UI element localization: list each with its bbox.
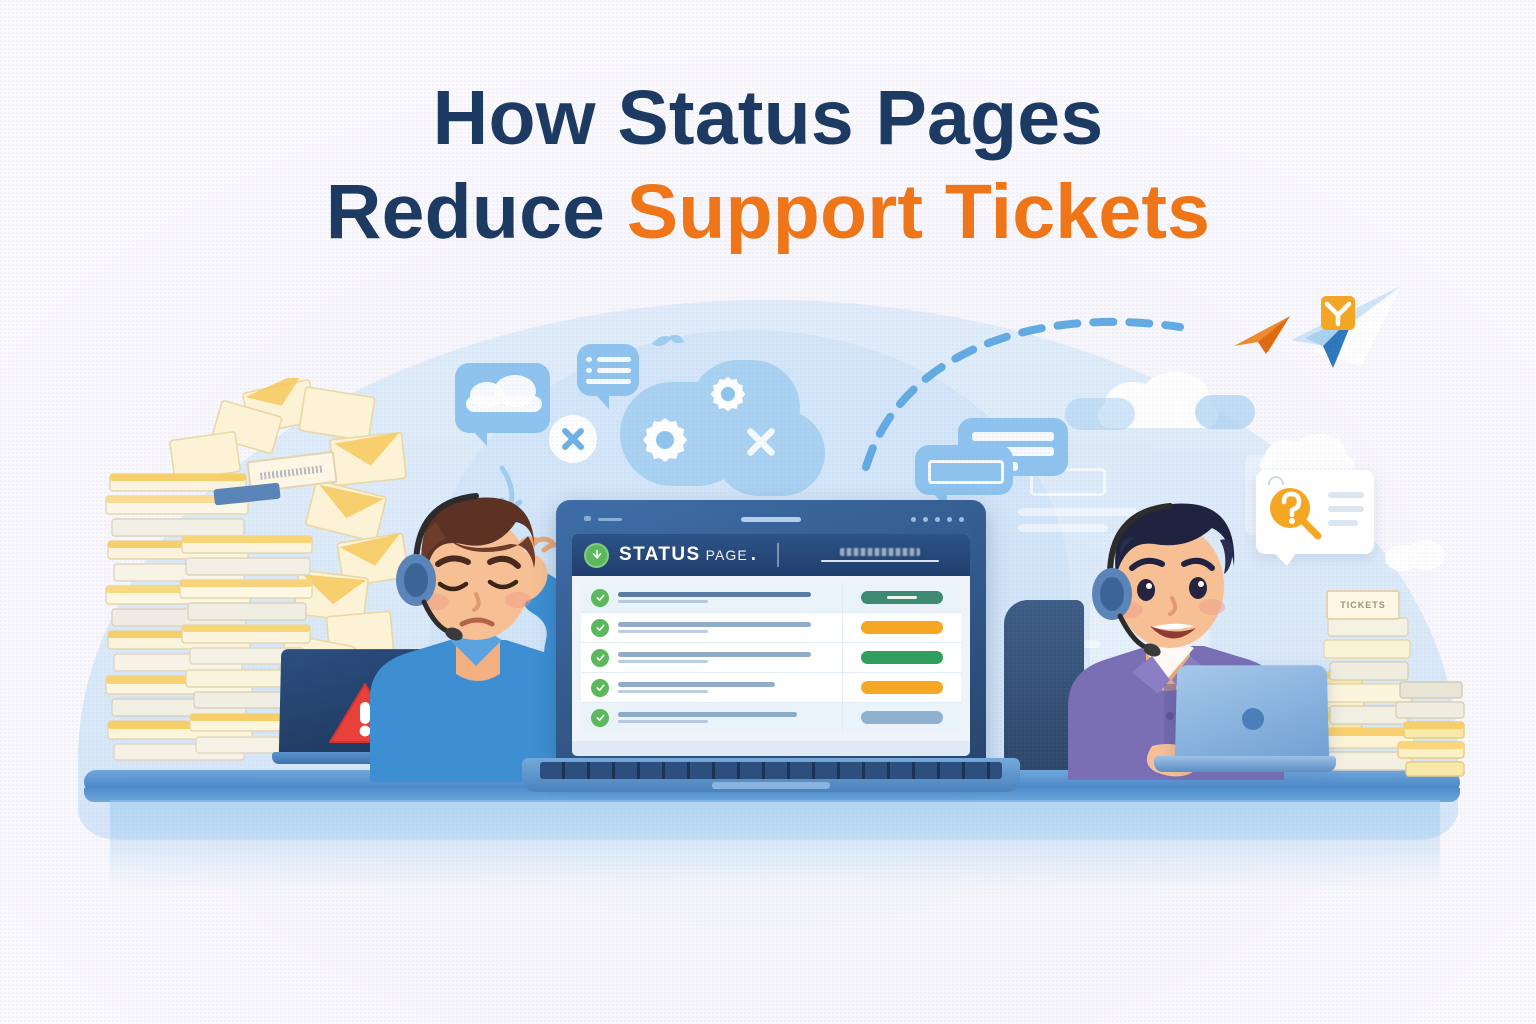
laptop-keyboard[interactable] [540, 762, 1002, 779]
status-page-header: STATUSPAGE. [572, 534, 970, 576]
status-badge-cell [842, 703, 961, 732]
status-page-body [572, 576, 970, 741]
status-row-sub-bar [618, 630, 708, 633]
dashed-arc-path [860, 285, 1280, 475]
bubble-line [586, 379, 631, 384]
status-badge-cell [842, 583, 961, 612]
center-laptop: STATUSPAGE. [556, 500, 986, 790]
x-glyph-icon [560, 426, 586, 452]
laptop-screen: STATUSPAGE. [572, 534, 970, 756]
desk-reflection [110, 800, 1440, 890]
status-row-title-bar [618, 622, 811, 627]
ticket-stack-label-text: TICKETS [1340, 600, 1386, 610]
status-badge[interactable] [861, 681, 943, 694]
header-placeholder-text [840, 548, 920, 556]
status-badge-cell [842, 673, 961, 702]
status-table [581, 583, 961, 732]
status-row-label [618, 712, 842, 723]
header-divider [777, 543, 779, 567]
scribble-text [260, 465, 322, 480]
right-laptop [1154, 664, 1336, 784]
right-laptop-logo [1242, 708, 1264, 730]
status-badge[interactable] [861, 621, 943, 634]
status-badge[interactable] [861, 711, 943, 724]
bezel-dots [911, 517, 964, 522]
page-title: How Status Pages Reduce Support Tickets [0, 78, 1536, 253]
title-line-2: Reduce Support Tickets [0, 172, 1536, 254]
title-line-2-accent: Support Tickets [627, 169, 1210, 255]
status-row-sub-bar [618, 600, 708, 603]
x-glyph-icon [744, 425, 778, 459]
bubble-line [597, 368, 631, 373]
title-line-1: How Status Pages [0, 78, 1536, 160]
title-line-2-prefix: Reduce [326, 169, 627, 255]
bezel-slot [741, 517, 801, 522]
help-card-line [1328, 506, 1364, 512]
gear-icon [637, 412, 693, 468]
webcam-icon [584, 516, 591, 521]
status-row-title-bar [618, 682, 775, 687]
leaf-decor-icon [648, 330, 688, 360]
check-icon [591, 619, 609, 637]
status-row[interactable] [581, 583, 961, 613]
right-laptop-base [1154, 756, 1336, 772]
status-row[interactable] [581, 613, 961, 643]
check-icon [591, 649, 609, 667]
check-icon [591, 709, 609, 727]
bubble-line [597, 357, 631, 362]
status-badge[interactable] [861, 591, 943, 604]
status-badge-line [887, 596, 917, 599]
envelope-plane-icon [1283, 280, 1413, 380]
status-row-label [618, 622, 842, 633]
check-icon [591, 679, 609, 697]
help-card-line [1328, 520, 1358, 526]
status-row-sub-bar [618, 720, 708, 723]
status-row-title-bar [618, 592, 811, 597]
help-card-line [1328, 492, 1364, 498]
status-row[interactable] [581, 673, 961, 703]
laptop-base [522, 758, 1020, 792]
status-row-label [618, 682, 842, 693]
status-row-sub-bar [618, 660, 708, 663]
status-row-title-bar [618, 652, 811, 657]
status-row-label [618, 652, 842, 663]
status-page-header-right [801, 548, 958, 562]
status-page-title-main: STATUS [619, 544, 701, 565]
download-arrow-icon [584, 543, 609, 568]
status-row[interactable] [581, 643, 961, 673]
cloud-icon [1405, 540, 1445, 570]
cloud-icon [466, 396, 542, 412]
status-page-title: STATUSPAGE. [619, 544, 757, 566]
status-badge-cell [842, 613, 961, 642]
laptop-trackpad[interactable] [712, 782, 830, 789]
status-row[interactable] [581, 703, 961, 732]
check-icon [591, 589, 609, 607]
header-underline [821, 560, 939, 562]
status-row-title-bar [618, 712, 797, 717]
banner-canvas: TICKETS [0, 0, 1536, 1024]
status-badge[interactable] [861, 651, 943, 664]
ticket-stack-label: TICKETS [1326, 590, 1400, 620]
status-page-title-sub: PAGE [706, 547, 748, 563]
status-badge-cell [842, 643, 961, 672]
bubble-line [586, 357, 592, 362]
status-row-sub-bar [618, 690, 708, 693]
status-row-label [618, 592, 842, 603]
bezel-accent [598, 518, 622, 521]
laptop-lid: STATUSPAGE. [556, 500, 986, 772]
gear-icon [706, 372, 750, 416]
status-page-title-dot: . [751, 544, 757, 564]
bubble-line [586, 368, 592, 373]
